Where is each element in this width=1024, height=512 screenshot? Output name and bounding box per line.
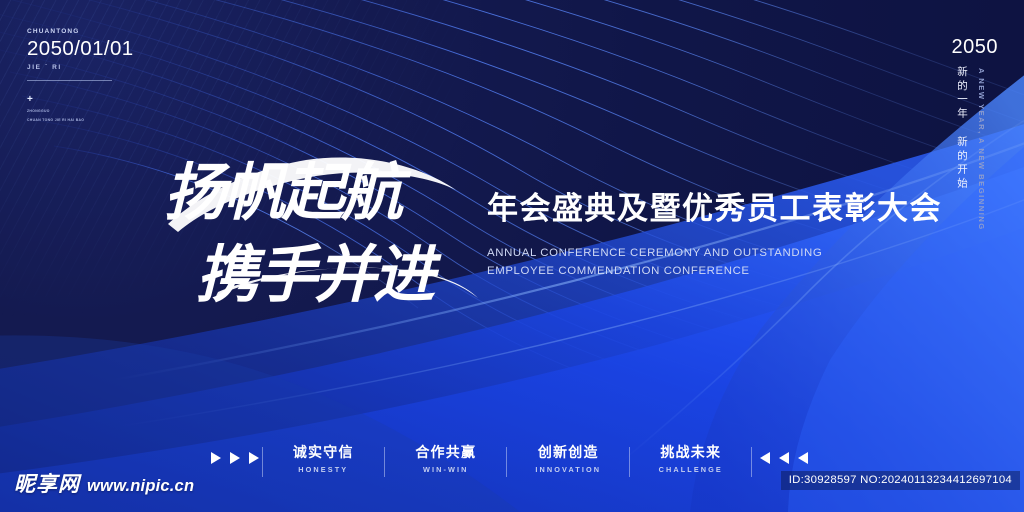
main-title-en-line1: ANNUAL CONFERENCE CEREMONY AND OUTSTANDI…: [487, 244, 907, 262]
triangle-right-icon: [249, 452, 259, 464]
vertical-slogan-en: A NEW YEAR, A NEW BEGINNING: [977, 68, 986, 231]
arrow-left-group: [760, 452, 808, 464]
values-bar: 诚实守信 HONESTY 合作共赢 WIN-WIN 创新创造 INNOVATIO…: [262, 444, 752, 474]
value-item: 创新创造 INNOVATION: [507, 444, 630, 474]
year-vertical-block: 2050 新的一年 新的开始 A NEW YEAR, A NEW BEGINNI…: [924, 36, 998, 206]
value-label-cn: 合作共赢: [389, 444, 504, 461]
watermark-brand: 昵享网: [14, 468, 80, 498]
main-title-cn: 年会盛典及暨优秀员工表彰大会: [487, 192, 907, 227]
arrow-right-group: [211, 452, 259, 464]
watermark-url: www.nipic.cn: [87, 477, 194, 496]
date-info-block: CHUANTONG 2050/01/01 JIE ` RI + ZHONGGUO…: [27, 28, 177, 123]
svg-text:携手并进: 携手并进: [196, 242, 442, 310]
value-label-cn: 挑战未来: [634, 444, 749, 461]
year-label: 2050: [952, 36, 999, 59]
main-title-en-line2: EMPLOYEE COMMENDATION CONFERENCE: [487, 262, 907, 280]
image-id-label: ID:30928597 NO:20240113234412697104: [781, 471, 1020, 490]
value-label-cn: 创新创造: [511, 444, 626, 461]
divider-line: [27, 80, 112, 81]
value-label-cn: 诚实守信: [266, 444, 381, 461]
date-subtitle: JIE ` RI: [27, 64, 177, 71]
triangle-left-icon: [760, 452, 770, 464]
calligraphy-artwork: 扬帆起航 携手并进: [156, 146, 486, 321]
value-item: 挑战未来 CHALLENGE: [630, 444, 753, 474]
date-kicker: CHUANTONG: [27, 28, 177, 35]
triangle-left-icon: [798, 452, 808, 464]
triangle-left-icon: [779, 452, 789, 464]
value-label-en: CHALLENGE: [634, 465, 749, 474]
value-label-en: INNOVATION: [511, 465, 626, 474]
micro-caption-line-2: CHUAN TONG JIE RI HAI BAO: [27, 118, 177, 123]
svg-text:扬帆起航: 扬帆起航: [164, 160, 412, 228]
value-label-en: HONESTY: [266, 465, 381, 474]
plus-icon: +: [27, 95, 177, 105]
date-value: 2050/01/01: [27, 37, 177, 61]
main-heading-block: 年会盛典及暨优秀员工表彰大会 ANNUAL CONFERENCE CEREMON…: [487, 192, 907, 281]
micro-caption-line-1: ZHONGGUO: [27, 109, 177, 114]
vertical-slogan-cn: 新的一年 新的开始: [955, 66, 970, 191]
triangle-right-icon: [230, 452, 240, 464]
poster-canvas: CHUANTONG 2050/01/01 JIE ` RI + ZHONGGUO…: [0, 0, 1024, 512]
triangle-right-icon: [211, 452, 221, 464]
watermark: 昵享网 www.nipic.cn: [14, 468, 194, 498]
value-item: 诚实守信 HONESTY: [262, 444, 385, 474]
value-label-en: WIN-WIN: [389, 465, 504, 474]
value-item: 合作共赢 WIN-WIN: [385, 444, 508, 474]
